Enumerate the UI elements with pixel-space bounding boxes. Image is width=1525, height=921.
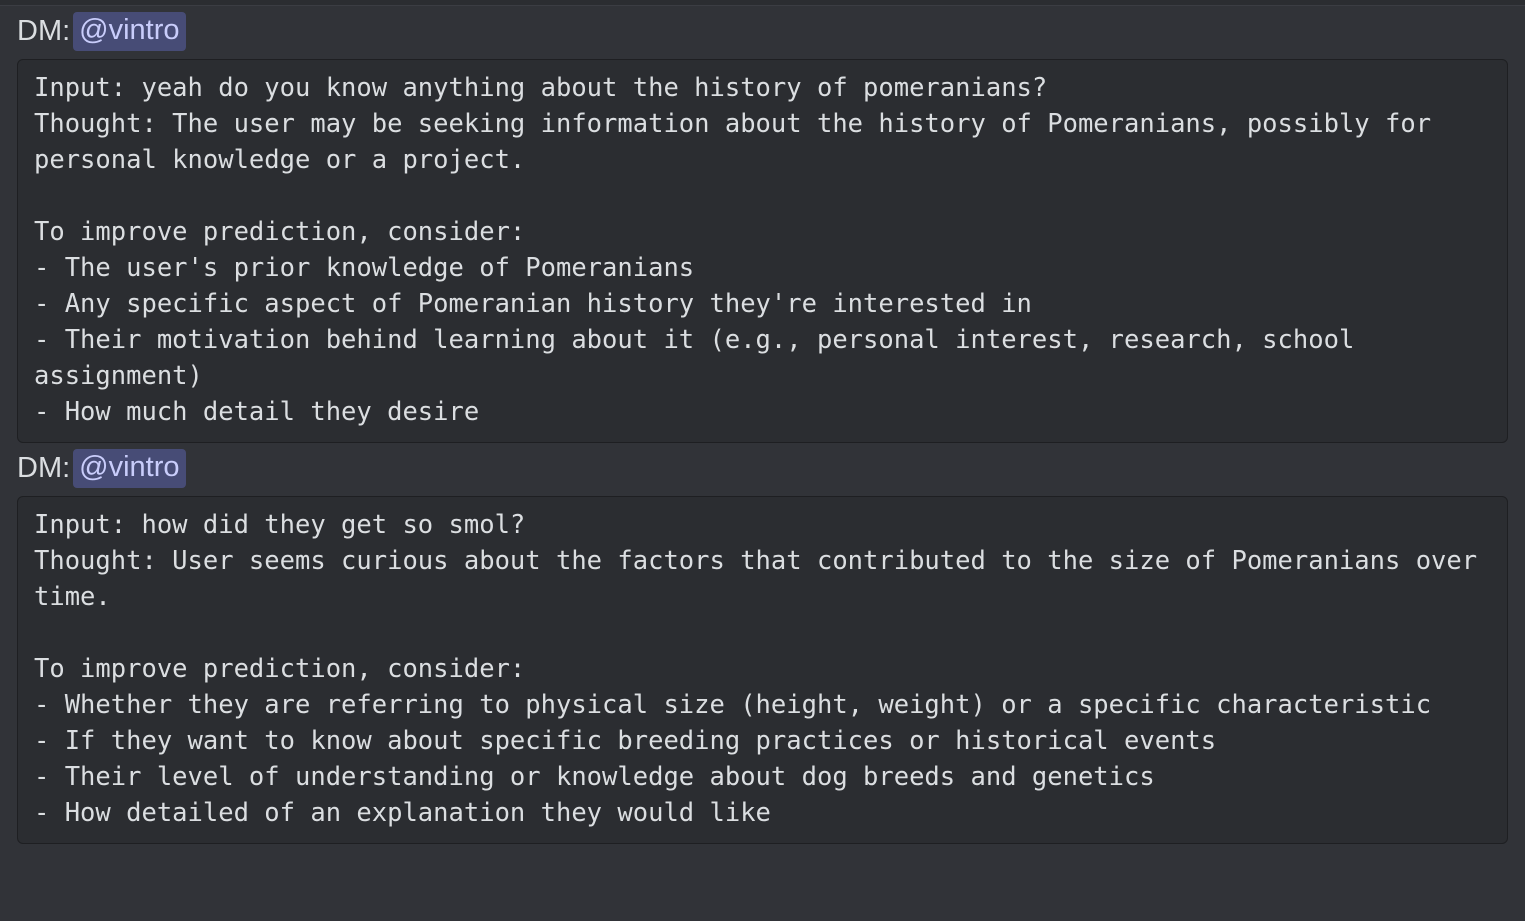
dm-header: DM: @vintro (0, 6, 1525, 55)
mention-pill-vintro[interactable]: @vintro (73, 449, 185, 488)
dm-header: DM: @vintro (0, 443, 1525, 492)
message-item: DM: @vintro Input: yeah do you know anyt… (0, 6, 1525, 443)
message-item: DM: @vintro Input: how did they get so s… (0, 443, 1525, 844)
message-feed: DM: @vintro Input: yeah do you know anyt… (0, 6, 1525, 844)
code-block-text: Input: yeah do you know anything about t… (34, 70, 1495, 430)
code-block: Input: yeah do you know anything about t… (17, 59, 1508, 443)
code-block: Input: how did they get so smol? Thought… (17, 496, 1508, 844)
dm-prefix-label: DM: (17, 451, 70, 486)
code-block-text: Input: how did they get so smol? Thought… (34, 507, 1495, 831)
mention-pill-vintro[interactable]: @vintro (73, 12, 185, 51)
dm-prefix-label: DM: (17, 14, 70, 49)
